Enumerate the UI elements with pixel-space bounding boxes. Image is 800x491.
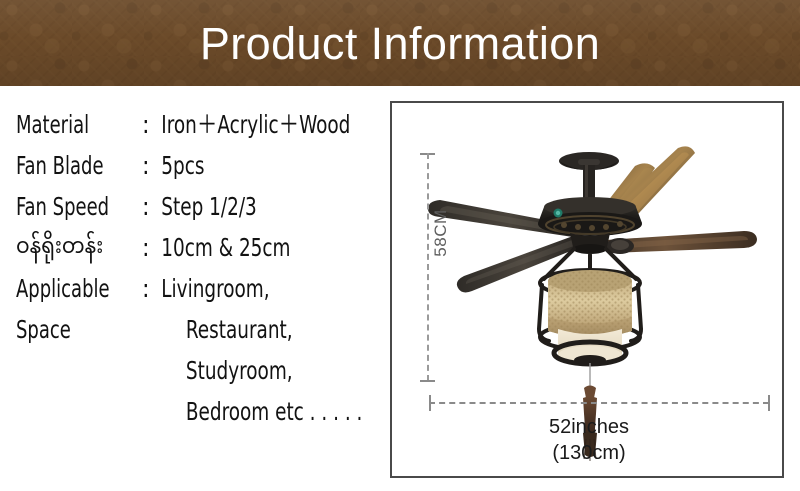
spec-row-applicable-space-cont-1: Space Restaurant, bbox=[16, 309, 388, 350]
spec-label: Fan Speed bbox=[16, 194, 117, 219]
spec-value: 10cm & 25cm bbox=[158, 235, 347, 260]
spec-value: Studyroom, bbox=[158, 358, 347, 383]
spec-row-fan-speed: Fan Speed : Step 1/2/3 bbox=[16, 186, 388, 227]
width-dimension-cm: (130cm) bbox=[392, 440, 782, 466]
spec-value: Step 1/2/3 bbox=[158, 194, 347, 219]
spec-label: Material bbox=[16, 112, 117, 137]
spec-label: ဝန်ရိုးတန်း bbox=[16, 237, 132, 259]
spec-row-material: Material : Iron＋Acrylic＋Wood bbox=[16, 104, 388, 145]
spec-list: Material : Iron＋Acrylic＋Wood Fan Blade :… bbox=[16, 104, 388, 432]
spec-row-fan-blade: Fan Blade : 5pcs bbox=[16, 145, 388, 186]
header-banner: Product Information bbox=[0, 0, 800, 86]
product-information-page: Product Information Material : Iron＋Acry… bbox=[0, 0, 800, 491]
spec-colon: : bbox=[142, 235, 158, 260]
spec-label: Applicable bbox=[16, 276, 117, 301]
width-dimension-line bbox=[429, 402, 769, 404]
spec-colon: : bbox=[142, 153, 158, 178]
width-dimension-label: 52inches (130cm) bbox=[392, 414, 782, 466]
spec-colon: : bbox=[142, 194, 158, 219]
spec-row-applicable-space-cont-2: Studyroom, bbox=[16, 350, 388, 391]
spec-value: Restaurant, bbox=[158, 317, 347, 342]
spec-value: 5pcs bbox=[158, 153, 347, 178]
spec-value: Livingroom, bbox=[158, 276, 347, 301]
height-dimension-cap-bottom bbox=[420, 380, 435, 382]
spec-colon: : bbox=[142, 112, 158, 137]
spec-label: Fan Blade bbox=[16, 153, 117, 178]
page-title: Product Information bbox=[0, 0, 800, 86]
spec-row-applicable-space-cont-3: Bedroom etc . . . . . bbox=[16, 391, 388, 432]
spec-value: Iron＋Acrylic＋Wood bbox=[158, 112, 350, 137]
spec-colon: : bbox=[142, 276, 158, 301]
height-dimension-line bbox=[427, 153, 429, 381]
product-image-panel: 58CM 52inches (130cm) bbox=[390, 101, 784, 478]
product-image-stage: 58CM 52inches (130cm) bbox=[392, 103, 782, 476]
spec-row-applicable-space: Applicable : Livingroom, bbox=[16, 268, 388, 309]
spec-label: Space bbox=[16, 317, 117, 342]
width-dimension-cap-right bbox=[768, 395, 770, 411]
height-dimension-label: 58CM bbox=[431, 193, 451, 273]
spec-value: Bedroom etc . . . . . bbox=[158, 399, 362, 424]
width-dimension-inches: 52inches bbox=[549, 416, 629, 438]
spec-row-downrod: ဝန်ရိုးတန်း : 10cm & 25cm bbox=[16, 227, 388, 268]
